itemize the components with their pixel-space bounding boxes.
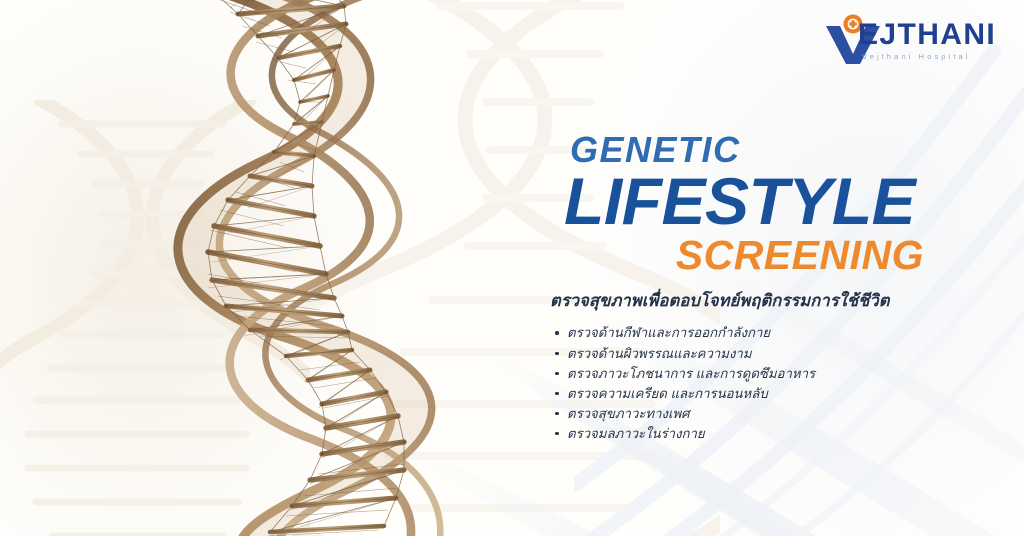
dna-helix-artwork bbox=[108, 0, 538, 536]
banner-content: GENETIC LIFESTYLE SCREENING ตรวจสุขภาพเพ… bbox=[548, 132, 948, 444]
list-item: ตรวจความเครียด และการนอนหลับ bbox=[554, 384, 948, 404]
vejthani-hospital-logo[interactable]: EJTHANI Vejthani Hospital bbox=[820, 14, 996, 68]
list-item: ตรวจภาวะโภชนาการ และการดูดซึมอาหาร bbox=[554, 364, 948, 384]
logo-wordmark: EJTHANI bbox=[858, 20, 996, 50]
list-item: ตรวจมลภาวะในร่างกาย bbox=[554, 424, 948, 444]
logo-tagline: Vejthani Hospital bbox=[862, 52, 971, 61]
background-wash-left bbox=[0, 0, 500, 536]
headline-lifestyle: LIFESTYLE bbox=[564, 170, 948, 233]
background-swoosh-5 bbox=[393, 432, 1024, 536]
subtitle-text: ตรวจสุขภาพเพื่อตอบโจทย์พฤติกรรมการใช้ชีว… bbox=[550, 292, 948, 312]
service-list: ตรวจด้านกีฬาและการออกกำลังกาย ตรวจด้านผิ… bbox=[554, 323, 948, 443]
list-item: ตรวจสุขภาวะทางเพศ bbox=[554, 404, 948, 424]
list-item: ตรวจด้านกีฬาและการออกกำลังกาย bbox=[554, 323, 948, 343]
list-item: ตรวจด้านผิวพรรณและความงาม bbox=[554, 344, 948, 364]
headline-genetic: GENETIC bbox=[570, 132, 948, 168]
genetic-lifestyle-screening-banner: EJTHANI Vejthani Hospital GENETIC LIFEST… bbox=[0, 0, 1024, 536]
watermark-dna-left bbox=[0, 100, 310, 536]
headline-screening: SCREENING bbox=[548, 235, 948, 276]
